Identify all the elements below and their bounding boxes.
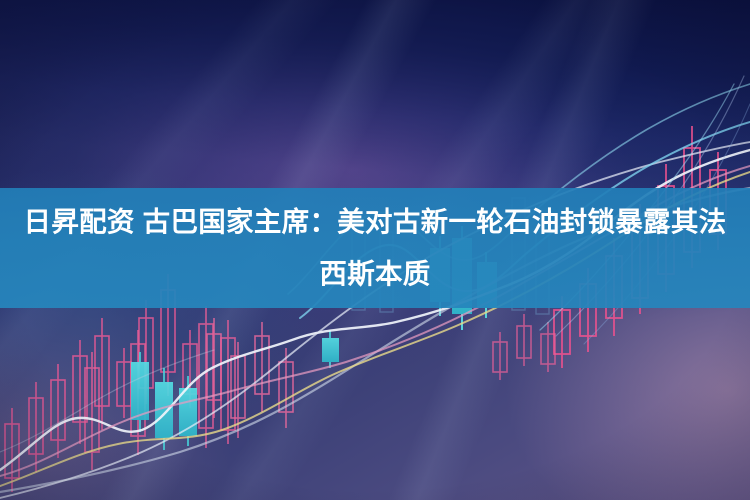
headline-text: 日昇配资 古巴国家主席：美对古新一轮石油封锁暴露其法西斯本质 — [0, 196, 750, 300]
candles-teal-center — [322, 330, 339, 368]
banner-image: 日昇配资 古巴国家主席：美对古新一轮石油封锁暴露其法西斯本质 — [0, 0, 750, 500]
